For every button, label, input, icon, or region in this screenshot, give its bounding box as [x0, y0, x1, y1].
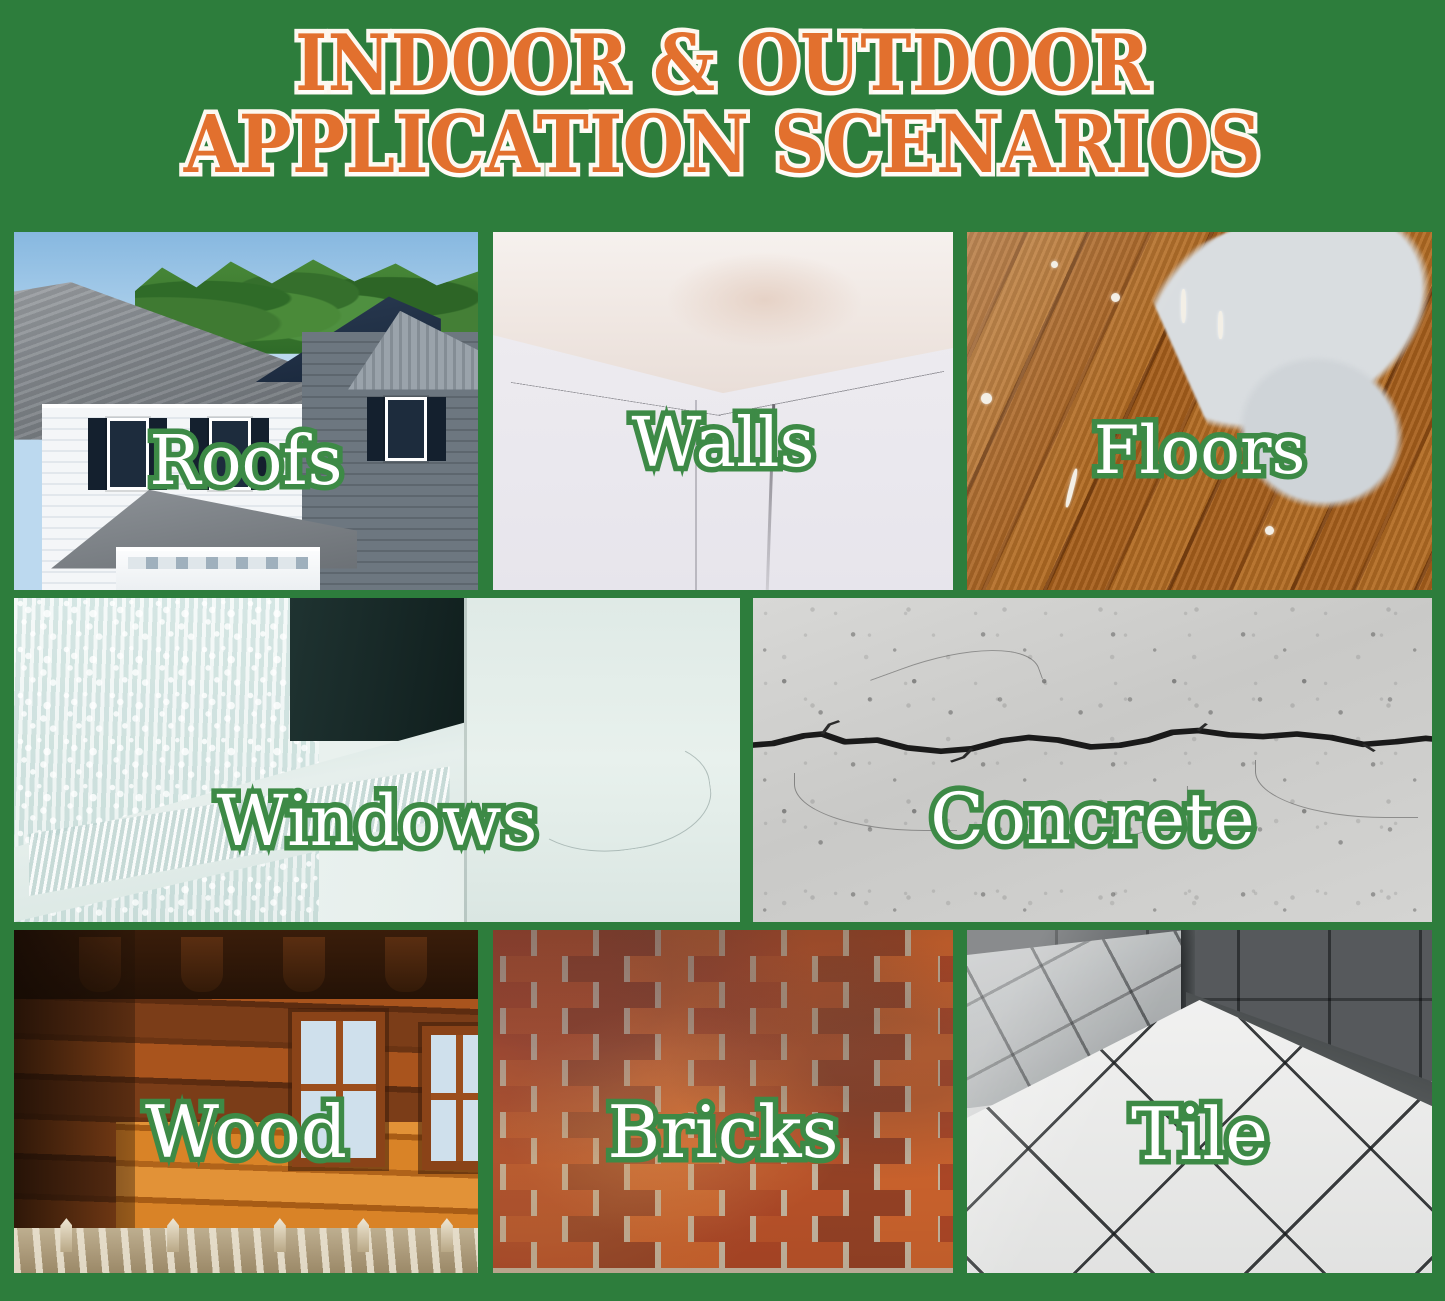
floors-photo — [967, 232, 1432, 590]
floor-sheen — [967, 930, 1432, 1273]
cabin-window — [292, 1012, 385, 1166]
title-line-1: INDOOR & OUTDOOR — [87, 26, 1359, 102]
scenario-tile-concrete[interactable]: Concrete — [753, 598, 1432, 922]
scenario-tile-wood[interactable]: Wood — [14, 930, 478, 1273]
roof-beam — [283, 937, 325, 992]
water-droplet — [1051, 261, 1058, 268]
application-scenarios-poster: INDOOR & OUTDOOR APPLICATION SCENARIOS R… — [0, 0, 1445, 1301]
dark-window-frame — [290, 598, 479, 741]
scenario-tile-floors[interactable]: Floors — [967, 232, 1432, 590]
water-droplet — [1265, 526, 1274, 535]
scenario-tile-walls[interactable]: Walls — [493, 232, 953, 590]
concrete-photo — [753, 598, 1432, 922]
scenario-tile-tile[interactable]: Tile — [967, 930, 1432, 1273]
shutter — [149, 418, 168, 490]
roof-beam — [385, 937, 427, 992]
water-droplet — [981, 393, 992, 404]
fallen-fence — [14, 1228, 478, 1273]
water-drip — [1218, 311, 1223, 339]
brick-vignette — [493, 930, 953, 1273]
walls-photo — [493, 232, 953, 590]
scenario-tile-windows[interactable]: Windows — [14, 598, 740, 922]
cabin-window — [422, 1026, 478, 1170]
shutter — [427, 397, 446, 461]
wall-seam — [695, 400, 697, 590]
windows-photo — [14, 598, 740, 922]
roof-beam — [181, 937, 223, 992]
water-droplet — [1111, 293, 1120, 302]
shutter — [251, 418, 270, 490]
poster-title: INDOOR & OUTDOOR APPLICATION SCENARIOS — [0, 26, 1445, 183]
water-drip — [1181, 289, 1186, 323]
roofs-photo — [14, 232, 478, 590]
scenario-tile-bricks[interactable]: Bricks — [493, 930, 953, 1273]
tile-photo — [967, 930, 1432, 1273]
scenario-tile-roofs[interactable]: Roofs — [14, 232, 478, 590]
window — [107, 418, 149, 490]
shutter — [190, 418, 209, 490]
wall-corner-edge — [464, 598, 467, 922]
floor-gloss — [967, 232, 1432, 590]
window — [385, 397, 427, 461]
bricks-photo — [493, 930, 953, 1273]
window — [209, 418, 251, 490]
shutter — [367, 397, 386, 461]
title-line-2: APPLICATION SCENARIOS — [87, 106, 1359, 184]
shaded-corner — [14, 930, 135, 1273]
wood-photo — [14, 930, 478, 1273]
garage-door — [116, 547, 320, 590]
water-stain — [668, 253, 861, 346]
main-crack — [753, 715, 1432, 767]
shutter — [88, 418, 107, 490]
